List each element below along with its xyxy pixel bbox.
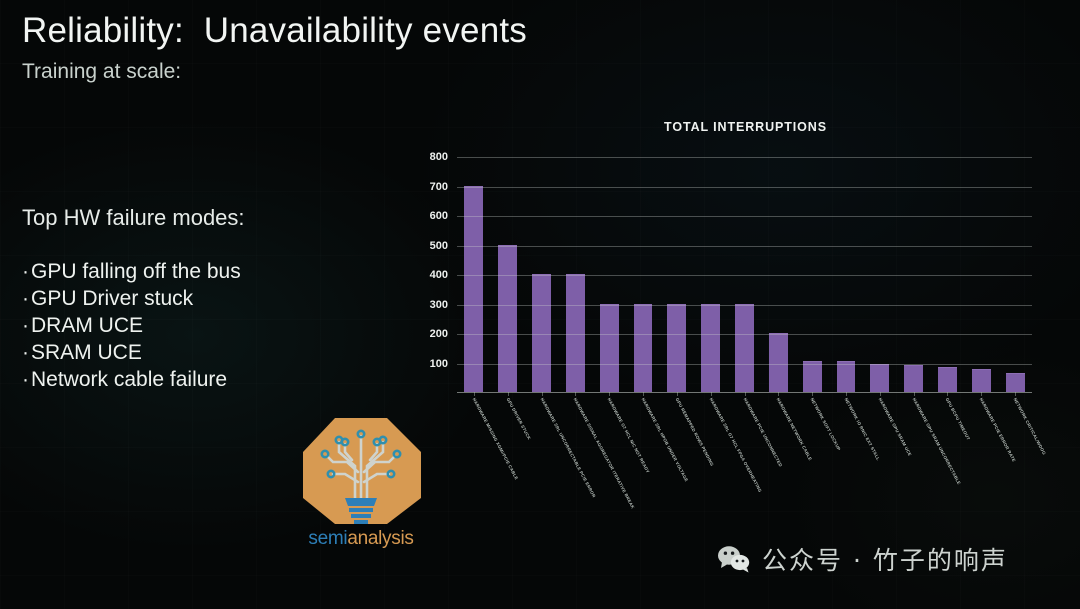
x-axis-label: NETWORK CRITICAL/WDOG <box>1013 397 1047 456</box>
y-axis-tick-label: 300 <box>430 299 448 311</box>
x-axis-label: NETWORK SOFT LOCKUP <box>810 397 842 451</box>
chart-bars <box>457 156 1032 392</box>
chart-bar <box>837 361 856 392</box>
failure-modes-heading: Top HW failure modes: <box>22 205 245 231</box>
chart-bar <box>769 333 788 392</box>
chart-bar <box>938 367 957 392</box>
chart-bar <box>735 304 754 393</box>
chart-bar <box>904 365 923 392</box>
x-axis-label: GPU REMAPPED ROWS PENDING <box>674 397 714 467</box>
list-item-label: Network cable failure <box>31 368 227 391</box>
y-axis-tick-label: 100 <box>430 358 448 370</box>
bullet-marker: · <box>22 287 29 310</box>
chart-gridline: 800 <box>457 157 1032 158</box>
x-axis-label: HARDWARE PCIE UNCONNECTED <box>742 397 783 468</box>
list-item: ·Network cable failure <box>22 366 241 393</box>
bullet-marker: · <box>22 341 29 364</box>
slide-root: Reliability: Unavailability events Train… <box>0 0 1080 609</box>
chart-bar <box>532 274 551 392</box>
list-item-label: DRAM UCE <box>31 314 143 337</box>
x-axis-label: NETWORK IO RNIC EXT STALL <box>844 397 881 461</box>
list-item-label: GPU falling off the bus <box>31 260 241 283</box>
x-axis-label: HARDWARE SRL UNCORRECTABLE PCIE ERROR <box>539 397 596 498</box>
list-item-label: SRAM UCE <box>31 341 142 364</box>
logo-word-semi: semi <box>308 528 347 549</box>
list-item: ·GPU Driver stuck <box>22 285 241 312</box>
chart-x-axis-labels: HARDWARE MISSING XGMI/PCIE CABLEGPU DRIV… <box>457 393 1032 523</box>
x-axis-label: GPU DRIVER STUCK <box>505 397 531 441</box>
x-axis-label: GPU BCPU TIMEOUT <box>945 397 972 441</box>
x-axis-label: HARDWARE GPU SRAM UCE <box>877 397 912 457</box>
page-subtitle: Training at scale: <box>22 60 181 84</box>
chart-bar <box>1006 373 1025 392</box>
logo-word-analysis: analysis <box>347 528 413 549</box>
x-axis-label: HARDWARE PCIE ERROR RATE <box>979 397 1017 463</box>
failure-modes-list: ·GPU falling off the bus·GPU Driver stuc… <box>22 258 241 393</box>
chart-gridline: 700 <box>457 187 1032 188</box>
chart-gridline: 600 <box>457 216 1032 217</box>
y-axis-tick-label: 800 <box>430 151 448 163</box>
list-item: ·SRAM UCE <box>22 339 241 366</box>
chart-bar <box>701 304 720 393</box>
y-axis-tick-label: 200 <box>430 328 448 340</box>
chart-gridline: 500 <box>457 246 1032 247</box>
logo-mark <box>295 412 427 530</box>
watermark-text: 公众号 · 竹子的响声 <box>762 541 1008 577</box>
wechat-icon <box>717 545 751 573</box>
semianalysis-logo: semianalysis <box>295 412 427 548</box>
y-axis-tick-label: 600 <box>430 210 448 222</box>
x-axis-label: HARDWARE SIGNAL AGGREGATOR ITERATIVE BRE… <box>573 397 636 510</box>
x-axis-label: HARDWARE NETWORK CABLE <box>776 397 813 461</box>
chart-bar <box>870 364 889 392</box>
chart-gridline: 200 <box>457 334 1032 335</box>
chart-bar <box>566 274 585 392</box>
chart-bar <box>667 304 686 393</box>
total-interruptions-chart: TOTAL INTERRUPTIONS 10020030040050060070… <box>413 120 1038 405</box>
chart-bar <box>600 304 619 393</box>
chart-gridline: 300 <box>457 305 1032 306</box>
page-title: Reliability: Unavailability events <box>22 11 527 51</box>
wechat-watermark: 公众号 · 竹子的响声 <box>717 541 1008 577</box>
list-item: ·GPU falling off the bus <box>22 258 241 285</box>
chart-gridline: 400 <box>457 275 1032 276</box>
chart-title: TOTAL INTERRUPTIONS <box>413 120 1038 134</box>
logo-wordmark: semianalysis <box>295 528 427 550</box>
chart-bar <box>498 245 517 393</box>
chart-gridline: 100 <box>457 364 1032 365</box>
y-axis-tick-label: 700 <box>430 181 448 193</box>
chart-bar <box>972 369 991 392</box>
bullet-marker: · <box>22 260 29 283</box>
bullet-marker: · <box>22 314 29 337</box>
chart-plot-area: 100200300400500600700800 <box>457 156 1032 393</box>
y-axis-tick-label: 400 <box>430 269 448 281</box>
y-axis-tick-label: 500 <box>430 240 448 252</box>
list-item: ·DRAM UCE <box>22 312 241 339</box>
bullet-marker: · <box>22 368 29 391</box>
chart-bar <box>803 361 822 392</box>
list-item-label: GPU Driver stuck <box>31 287 193 310</box>
x-axis-label: HARDWARE G7 HCL NIC NOT READY <box>607 397 651 474</box>
chart-bar <box>634 304 653 393</box>
